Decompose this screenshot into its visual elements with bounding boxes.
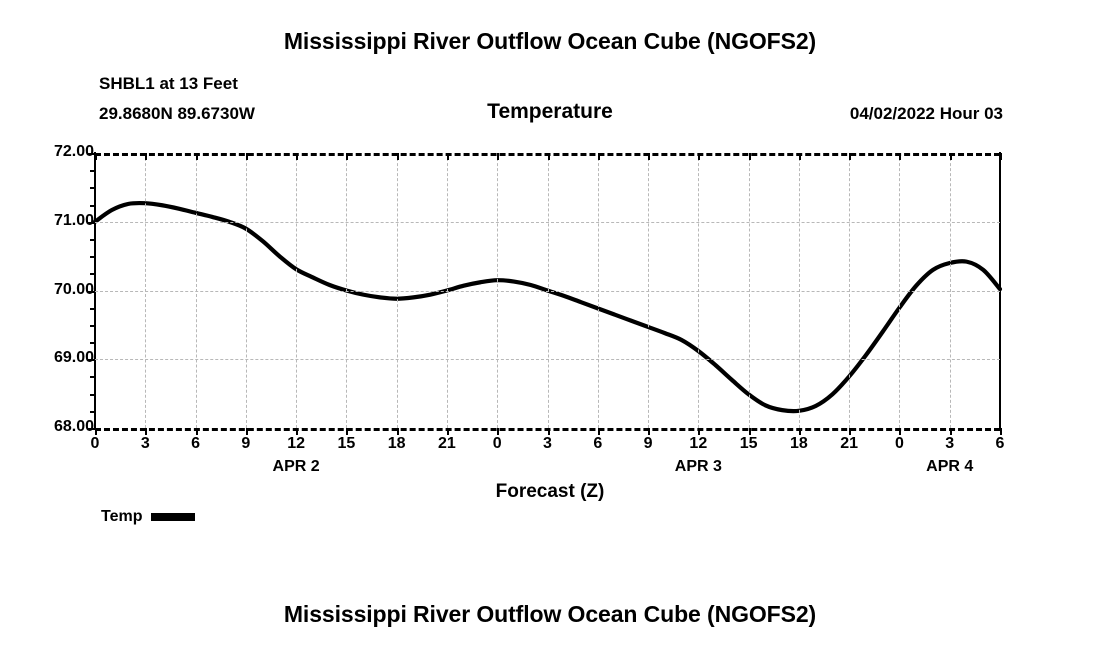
gridline-vertical xyxy=(246,153,247,428)
x-axis-tick xyxy=(296,428,298,435)
x-axis-tick-label: 15 xyxy=(326,435,366,453)
y-axis-minor-tick xyxy=(90,376,95,378)
x-axis-tick-label: 6 xyxy=(578,435,618,453)
gridline-vertical xyxy=(598,153,599,428)
x-axis-tick xyxy=(598,428,600,435)
gridline-vertical xyxy=(548,153,549,428)
x-axis-tick-top xyxy=(447,153,449,160)
page-title-top: Mississippi River Outflow Ocean Cube (NG… xyxy=(0,28,1100,55)
x-axis-tick-label: 18 xyxy=(779,435,819,453)
x-axis-tick-label: 21 xyxy=(829,435,869,453)
x-axis-tick xyxy=(799,428,801,435)
x-axis-tick xyxy=(1000,428,1002,435)
x-axis-tick-label: 0 xyxy=(75,435,115,453)
x-axis-tick xyxy=(246,428,248,435)
forecast-chart-page: Mississippi River Outflow Ocean Cube (NG… xyxy=(0,0,1100,650)
x-axis-tick xyxy=(899,428,901,435)
x-axis-tick-top xyxy=(548,153,550,160)
y-axis-minor-tick xyxy=(90,187,95,189)
gridline-vertical xyxy=(849,153,850,428)
x-axis-tick xyxy=(145,428,147,435)
x-axis-tick xyxy=(346,428,348,435)
x-axis-day-label: APR 4 xyxy=(890,458,1010,476)
x-axis-tick xyxy=(749,428,751,435)
y-axis-minor-tick xyxy=(90,308,95,310)
x-axis-tick-top xyxy=(648,153,650,160)
plot-area xyxy=(95,153,1000,428)
x-axis-tick xyxy=(548,428,550,435)
x-axis-tick-top xyxy=(950,153,952,160)
x-axis-tick-top xyxy=(698,153,700,160)
x-axis-tick xyxy=(698,428,700,435)
x-axis-tick-label: 6 xyxy=(980,435,1020,453)
x-axis-tick-top xyxy=(899,153,901,160)
y-axis-minor-tick xyxy=(90,411,95,413)
gridline-vertical xyxy=(749,153,750,428)
x-axis-tick-label: 0 xyxy=(879,435,919,453)
y-axis-tick-label: 72.00 xyxy=(14,143,94,161)
x-axis-tick xyxy=(497,428,499,435)
x-axis-tick xyxy=(397,428,399,435)
x-axis-tick-top xyxy=(598,153,600,160)
gridline-vertical xyxy=(145,153,146,428)
gridline-vertical xyxy=(698,153,699,428)
x-axis-title: Forecast (Z) xyxy=(0,481,1100,503)
gridline-vertical xyxy=(346,153,347,428)
x-axis-tick-top xyxy=(145,153,147,160)
x-axis-tick-top xyxy=(296,153,298,160)
x-axis-tick xyxy=(648,428,650,435)
y-axis-minor-tick xyxy=(90,256,95,258)
x-axis-tick-top xyxy=(397,153,399,160)
gridline-vertical xyxy=(296,153,297,428)
x-axis-day-label: APR 2 xyxy=(236,458,356,476)
x-axis-tick-label: 6 xyxy=(176,435,216,453)
gridline-vertical xyxy=(799,153,800,428)
x-axis-tick-label: 18 xyxy=(377,435,417,453)
x-axis-tick-label: 12 xyxy=(276,435,316,453)
legend-swatch-temp xyxy=(151,513,195,521)
x-axis-tick-label: 3 xyxy=(528,435,568,453)
x-axis-tick-top xyxy=(1000,153,1002,160)
x-axis-tick-label: 3 xyxy=(930,435,970,453)
y-axis-tick-label: 68.00 xyxy=(14,418,94,436)
x-axis-tick xyxy=(950,428,952,435)
x-axis-tick-top xyxy=(799,153,801,160)
x-axis-tick xyxy=(849,428,851,435)
y-axis-minor-tick xyxy=(90,394,95,396)
x-axis-tick xyxy=(196,428,198,435)
y-axis-minor-tick xyxy=(90,205,95,207)
x-axis-tick-top xyxy=(196,153,198,160)
y-axis-minor-tick xyxy=(90,342,95,344)
page-title-bottom: Mississippi River Outflow Ocean Cube (NG… xyxy=(0,601,1100,628)
x-axis-tick-top xyxy=(749,153,751,160)
x-axis-tick xyxy=(447,428,449,435)
x-axis-tick xyxy=(95,428,97,435)
legend: Temp xyxy=(101,508,195,526)
x-axis-day-label: APR 3 xyxy=(638,458,758,476)
x-axis-tick-top xyxy=(346,153,348,160)
y-axis-minor-tick xyxy=(90,325,95,327)
valid-time-label: 04/02/2022 Hour 03 xyxy=(850,104,1003,124)
x-axis-tick-label: 9 xyxy=(628,435,668,453)
x-axis-tick-top xyxy=(246,153,248,160)
x-axis-tick-label: 21 xyxy=(427,435,467,453)
gridline-vertical xyxy=(447,153,448,428)
x-axis-tick-top xyxy=(497,153,499,160)
y-axis-tick-label: 71.00 xyxy=(14,212,94,230)
x-axis-tick-label: 3 xyxy=(125,435,165,453)
y-axis-minor-tick xyxy=(90,273,95,275)
gridline-vertical xyxy=(950,153,951,428)
y-axis-tick-label: 69.00 xyxy=(14,349,94,367)
y-axis-minor-tick xyxy=(90,239,95,241)
legend-label-temp: Temp xyxy=(101,508,142,526)
x-axis-tick-top xyxy=(849,153,851,160)
gridline-vertical xyxy=(397,153,398,428)
x-axis-tick-label: 12 xyxy=(678,435,718,453)
gridline-vertical xyxy=(497,153,498,428)
x-axis-tick-label: 9 xyxy=(226,435,266,453)
x-axis-tick-label: 0 xyxy=(477,435,517,453)
gridline-vertical xyxy=(648,153,649,428)
y-axis-minor-tick xyxy=(90,170,95,172)
gridline-vertical xyxy=(196,153,197,428)
x-axis-tick-top xyxy=(95,153,97,160)
x-axis-tick-label: 15 xyxy=(729,435,769,453)
gridline-vertical xyxy=(899,153,900,428)
y-axis-tick-label: 70.00 xyxy=(14,281,94,299)
station-label: SHBL1 at 13 Feet xyxy=(99,74,238,94)
